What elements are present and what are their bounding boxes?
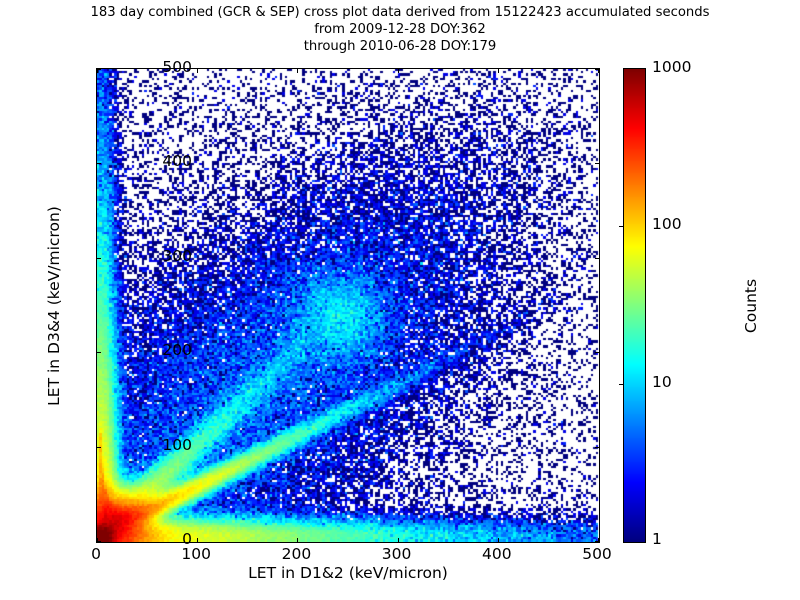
x-ticklabel-100: 100 [156, 545, 236, 563]
x-tick-0 [97, 69, 98, 73]
colorbar-ticklabel-1000: 1000 [652, 58, 691, 76]
y-ticklabel-200: 200 [162, 341, 192, 359]
colorbar-ticklabel-100: 100 [652, 215, 682, 233]
x-tick-200 [297, 69, 298, 73]
x-tick-400 [498, 538, 499, 542]
x-ticklabel-300: 300 [357, 545, 437, 563]
x-axis-title: LET in D1&2 (keV/micron) [96, 564, 600, 582]
x-tick-300 [398, 538, 399, 542]
x-ticklabel-400: 400 [457, 545, 537, 563]
y-tick-200 [595, 352, 599, 353]
x-tick-100 [197, 69, 198, 73]
colorbar-ticklabel-10: 10 [652, 373, 672, 391]
x-tick-500 [598, 69, 599, 73]
figure-canvas: 183 day combined (GCR & SEP) cross plot … [0, 0, 800, 600]
colorbar-tick-10 [619, 384, 624, 385]
x-tick-400 [498, 69, 499, 73]
colorbar [623, 68, 646, 543]
y-ticklabel-400: 400 [162, 152, 192, 170]
title-line-2: from 2009-12-28 DOY:362 [0, 21, 800, 38]
x-tick-0 [97, 538, 98, 542]
colorbar-title: Counts [742, 106, 760, 506]
title-line-3: through 2010-06-28 DOY:179 [0, 38, 800, 55]
x-tick-500 [598, 538, 599, 542]
x-tick-100 [197, 538, 198, 542]
y-ticklabel-300: 300 [162, 247, 192, 265]
colorbar-gradient [624, 69, 645, 542]
y-axis-title: LET in D3&4 (keV/micron) [45, 106, 63, 506]
y-tick-200 [97, 352, 101, 353]
x-ticklabel-200: 200 [256, 545, 336, 563]
y-tick-100 [97, 447, 101, 448]
y-tick-400 [97, 163, 101, 164]
plot-axes [96, 68, 600, 543]
y-tick-300 [595, 258, 599, 259]
x-ticklabel-0: 0 [56, 545, 136, 563]
x-tick-200 [297, 538, 298, 542]
x-ticklabel-500: 500 [557, 545, 637, 563]
colorbar-ticklabel-1: 1 [652, 530, 662, 548]
colorbar-tick-100 [619, 226, 624, 227]
y-ticklabel-100: 100 [162, 436, 192, 454]
y-tick-400 [595, 163, 599, 164]
x-tick-300 [398, 69, 399, 73]
title-line-1: 183 day combined (GCR & SEP) cross plot … [0, 4, 800, 21]
y-tick-300 [97, 258, 101, 259]
y-tick-100 [595, 447, 599, 448]
scatter-density-plot [97, 69, 599, 542]
page-title: 183 day combined (GCR & SEP) cross plot … [0, 4, 800, 55]
y-ticklabel-500: 500 [162, 58, 192, 76]
